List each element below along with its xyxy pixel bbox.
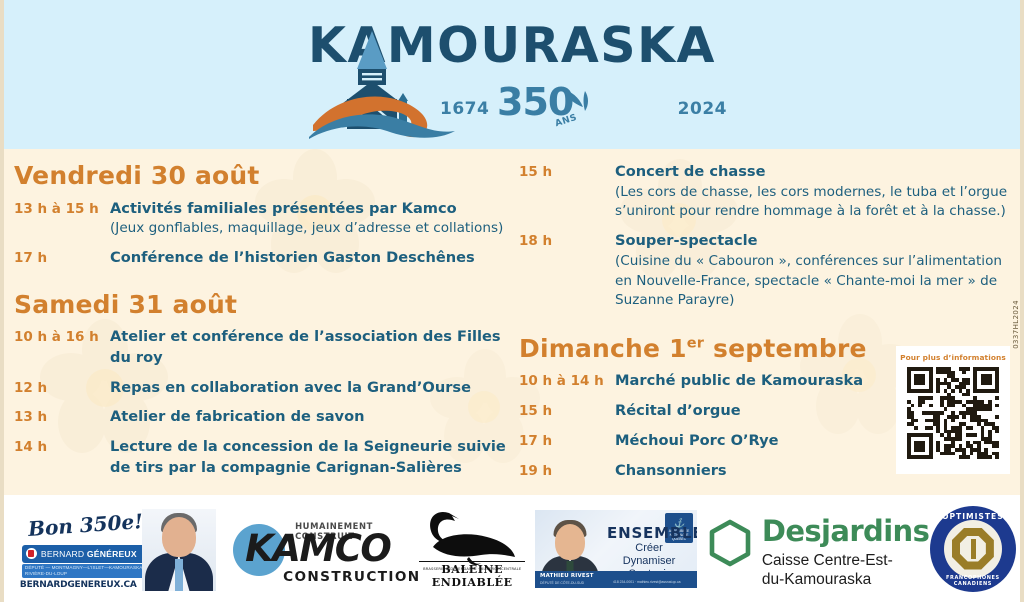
event-time: 17 h [14,248,110,269]
event-body: Lecture de la concession de la Seigneuri… [110,437,514,478]
event-time: 10 h à 16 h [14,327,110,348]
qr-code-image[interactable] [907,367,999,459]
event-time: 10 h à 14 h [519,371,615,392]
genereux-card: Bon 350e! BERNARD GÉNÉREUX DÉPUTÉ — MONT… [16,507,216,591]
genereux-website[interactable]: BERNARDGENEREUX.CA [20,580,137,590]
sunday-suffix: septembre [704,334,867,363]
day-heading-saturday: Samedi 31 août [14,291,514,319]
ensemble-contact: 418 234-0001 · mathieu.rivest@assnat.qc.… [613,580,681,585]
event-body: Conférence de l’historien Gaston Deschên… [110,248,514,269]
optimistes-top-text: OPTIMISTES [930,512,1016,521]
schedule-row: 14 h Lecture de la concession de la Seig… [14,437,514,478]
event-title: Conférence de l’historien Gaston Deschên… [110,248,514,269]
schedule-row: 17 h Conférence de l’historien Gaston De… [14,248,514,269]
event-title: Atelier et conférence de l’association d… [110,327,514,368]
desjardins-name: Desjardins [762,517,929,546]
poster: KAMOURASKA 1674 350 ANS [0,0,1024,602]
schedule-row: 12 h Repas en collaboration avec la Gran… [14,378,514,399]
optimistes-inner-circle [944,520,1002,578]
sponsor-desjardins[interactable]: Desjardins Caisse Centre-Est- du-Kamoura… [702,495,926,602]
desjardins-hexagon-icon [708,519,752,567]
event-detail: (Cuisine du « Cabouron », conférences su… [615,252,1019,311]
sponsor-ensemble[interactable]: ⚓ASSEMBLÉE NATIONALE QUÉBEC ENSEMBLE Cré… [530,495,702,602]
desjardins-logo: Desjardins Caisse Centre-Est- du-Kamoura… [708,513,920,585]
event-time: 17 h [519,431,615,452]
ensemble-person-role: DÉPUTÉ DE CÔTE-DU-SUD [540,581,584,585]
event-title: Lecture de la concession de la Seigneuri… [110,437,514,478]
ensemble-card: ⚓ASSEMBLÉE NATIONALE QUÉBEC ENSEMBLE Cré… [535,510,697,588]
ensemble-line-2: Dynamiser [607,555,691,567]
event-time: 15 h [519,401,615,422]
print-code-text: 0337HL2024 [1012,300,1020,349]
kamouraska-logo: KAMOURASKA 1674 350 ANS [297,7,727,142]
event-body: Concert de chasse (Les cors de chasse, l… [615,162,1019,222]
genereux-namebar: BERNARD GÉNÉREUX [22,545,162,563]
event-time: 14 h [14,437,110,458]
event-time: 18 h [519,231,615,252]
genereux-portrait [142,509,216,591]
right-edge-bar [1020,0,1024,602]
event-title: Concert de chasse [615,162,1019,183]
optimistes-bottom-text: FRANCOPHONES CANADIENS [930,575,1016,587]
year-start: 1674 [440,99,489,119]
leaf-flourish-icon [559,85,593,115]
event-title: Activités familiales présentées par Kamc… [110,199,514,220]
event-title: Repas en collaboration avec la Grand’Our… [110,378,514,399]
ensemble-person-name: MATHIEU RIVEST [540,573,594,579]
desjardins-caisse-line-2: du-Kamouraska [762,570,922,590]
event-time: 13 h à 15 h [14,199,110,220]
sponsor-bernard-genereux[interactable]: Bon 350e! BERNARD GÉNÉREUX DÉPUTÉ — MONT… [4,495,228,602]
event-body: Activités familiales présentées par Kamc… [110,199,514,239]
event-body: Souper-spectacle (Cuisine du « Cabouron … [615,231,1019,311]
schedule-column-left: Vendredi 30 août 13 h à 15 h Activités f… [14,162,514,487]
event-body: Atelier et conférence de l’association d… [110,327,514,368]
sunday-prefix: Dimanche 1 [519,334,687,363]
spacer [519,320,1019,333]
sponsor-bar: Bon 350e! BERNARD GÉNÉREUX DÉPUTÉ — MONT… [4,495,1020,602]
whale-name: BALEINE ENDIABLÉE [419,561,525,589]
schedule-row: 10 h à 16 h Atelier et conférence de l’a… [14,327,514,368]
event-time: 12 h [14,378,110,399]
event-body: Atelier de fabrication de savon [110,407,514,428]
party-logo-icon [26,548,37,559]
optimistes-octagon-icon [952,528,994,570]
desjardins-caisse: Caisse Centre-Est- du-Kamouraska [762,551,922,590]
schedule-row: 18 h Souper-spectacle (Cuisine du « Cabo… [519,231,1019,311]
genereux-name: BERNARD GÉNÉREUX [41,549,137,559]
event-title: Atelier de fabrication de savon [110,407,514,428]
sponsor-baleine-endiablee[interactable]: BRASSERIE INDÉPENDANTE · AUBERGE CENTRAL… [414,495,530,602]
event-time: 19 h [519,461,615,482]
kamco-name: KAMCO [245,530,390,567]
kamco-logo: HUMAINEMENT CONSTRUIT KAMCO CONSTRUCTION [231,514,411,584]
schedule-row: 15 h Concert de chasse (Les cors de chas… [519,162,1019,222]
day-heading-friday: Vendredi 30 août [14,162,514,190]
spacer [14,278,514,291]
genereux-greeting: Bon 350e! [27,509,143,541]
poster-header: KAMOURASKA 1674 350 ANS [0,0,1024,149]
qr-label: Pour plus d’informations [900,353,1006,362]
year-end: 2024 [678,99,727,119]
event-title: Souper-spectacle [615,231,1019,252]
sunday-ordinal: er [687,336,704,352]
ensemble-title: ENSEMBLE [607,524,697,542]
event-time: 13 h [14,407,110,428]
anniversary-mark: 1674 350 ANS 2024 [437,83,727,133]
whale-logo: BRASSERIE INDÉPENDANTE · AUBERGE CENTRAL… [419,505,525,593]
sponsor-kamco[interactable]: HUMAINEMENT CONSTRUIT KAMCO CONSTRUCTION [228,495,415,602]
desjardins-caisse-line-1: Caisse Centre-Est- [762,551,922,571]
optimistes-logo: OPTIMISTES FRANCOPHONES CANADIENS [930,506,1016,592]
kamco-subtitle: CONSTRUCTION [283,569,421,585]
event-time: 15 h [519,162,615,183]
qr-code-box[interactable]: Pour plus d’informations [896,346,1010,474]
event-body: Repas en collaboration avec la Grand’Our… [110,378,514,399]
event-detail: (Les cors de chasse, les cors modernes, … [615,183,1019,222]
sponsor-optimistes[interactable]: OPTIMISTES FRANCOPHONES CANADIENS [926,495,1020,602]
schedule-row: 13 h à 15 h Activités familiales présent… [14,199,514,239]
genereux-riding: DÉPUTÉ — MONTMAGNY—L’ISLET—KAMOURASKA—RI… [22,564,162,578]
ensemble-line-1: Créer [607,542,691,554]
schedule-row: 13 h Atelier de fabrication de savon [14,407,514,428]
event-detail: (Jeux gonflables, maquillage, jeux d’adr… [110,219,514,239]
